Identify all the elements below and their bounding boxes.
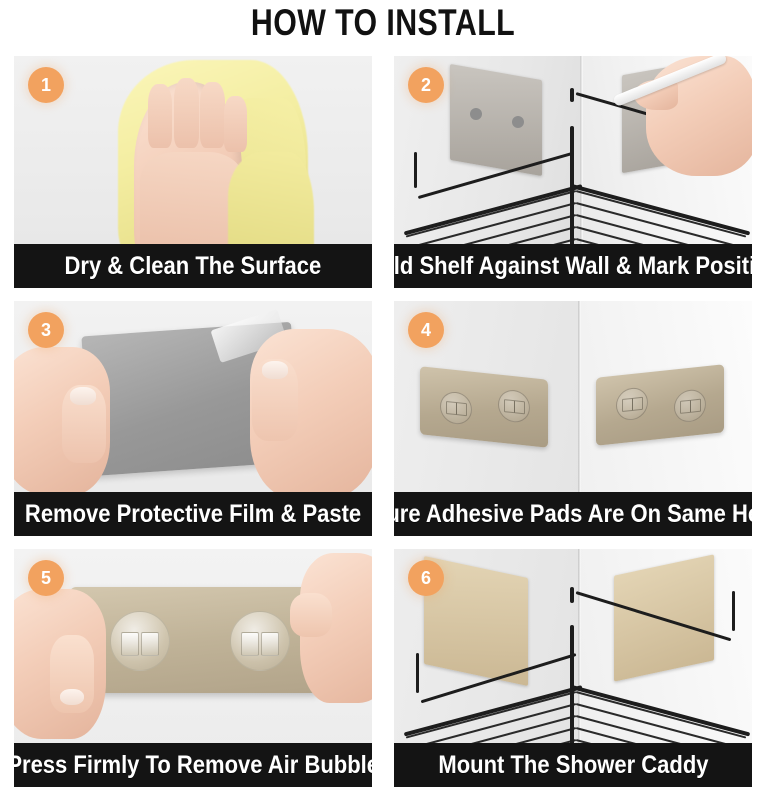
step-caption-bar-5: Press Firmly To Remove Air Bubble	[14, 743, 372, 787]
step-caption-text: Press Firmly To Remove Air Bubble	[14, 752, 372, 778]
adhesive-pad-right	[596, 364, 724, 445]
step-caption-bar-2: Hold Shelf Against Wall & Mark Position	[394, 244, 752, 288]
hook-mount-right	[230, 611, 290, 671]
step-number-badge: 5	[28, 560, 64, 596]
step-caption-text: Ensure Adhesive Pads Are On Same Height	[394, 501, 752, 527]
adhesive-pad-left	[420, 366, 548, 447]
step-caption-bar-4: Ensure Adhesive Pads Are On Same Height	[394, 492, 752, 536]
step-number-badge: 4	[408, 312, 444, 348]
step-caption-text: Remove Protective Film & Paste	[25, 501, 361, 527]
hook-mount-left	[110, 611, 170, 671]
adhesive-plate-left	[450, 64, 542, 176]
step-number-badge: 3	[28, 312, 64, 348]
step-panel-1: 1 Dry & Clean The Surface	[14, 56, 372, 288]
step-number-badge: 6	[408, 560, 444, 596]
step-number-badge: 1	[28, 67, 64, 103]
step-caption-text: Dry & Clean The Surface	[65, 253, 322, 279]
adhesive-pad	[70, 587, 320, 693]
step-panel-6: 6 Mount The Shower Caddy	[394, 549, 752, 787]
step-caption-bar-3: Remove Protective Film & Paste	[14, 492, 372, 536]
step-panel-4: 4 Ensure Adhesive Pads Are On Same Heigh…	[394, 301, 752, 536]
step-number-badge: 2	[408, 67, 444, 103]
step-panel-2: 2 Hold Shelf Against Wall & Mark Positio…	[394, 56, 752, 288]
hand	[646, 56, 752, 176]
step-caption-bar-1: Dry & Clean The Surface	[14, 244, 372, 288]
steps-grid: 1 Dry & Clean The Surface	[14, 56, 752, 782]
page-title: HOW TO INSTALL	[69, 2, 697, 44]
step-caption-bar-6: Mount The Shower Caddy	[394, 743, 752, 787]
step-caption-text: Mount The Shower Caddy	[438, 752, 708, 778]
step-caption-text: Hold Shelf Against Wall & Mark Position	[394, 253, 752, 279]
step-panel-5: 5 Press Firmly To Remove Air Bubble	[14, 549, 372, 787]
step-panel-3: 3 Remove Protective Film & Paste	[14, 301, 372, 536]
